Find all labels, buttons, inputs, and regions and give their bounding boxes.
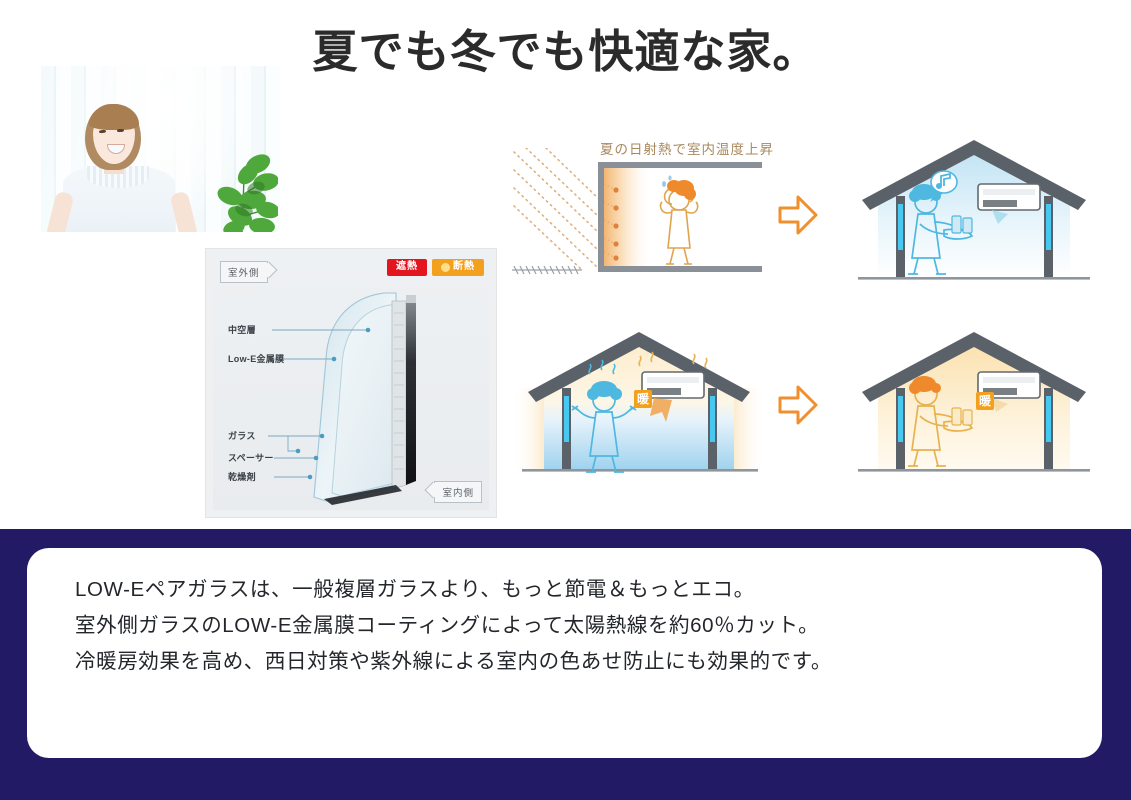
floor (858, 469, 1090, 472)
window-right (1046, 396, 1051, 442)
arrow-right-icon-2 (776, 382, 820, 428)
illustration-winter-after: 暖 (852, 330, 1096, 495)
arrow-winter (776, 382, 820, 433)
heated-wall (600, 166, 652, 266)
label-lowe-film: Low-E金属膜 (228, 352, 284, 365)
floor (858, 277, 1090, 280)
sun-rays-icon (514, 148, 600, 270)
illustration-summer-before (512, 148, 762, 293)
window-right (1046, 204, 1051, 250)
arrow-right-icon (776, 192, 820, 238)
label-desiccant: 乾燥剤 (228, 470, 256, 483)
description-line-1: LOW-Eペアガラスは、一般複層ガラスより、もっと節電＆もっとエコ。 (75, 572, 832, 608)
description-line-2: 室外側ガラスのLOW-E金属膜コーティングによって太陽熱線を約60％カット。 (75, 608, 832, 644)
window-jamb (598, 162, 604, 272)
label-air-layer: 中空層 (228, 323, 256, 336)
description-card: LOW-Eペアガラスは、一般複層ガラスより、もっと節電＆もっとエコ。 室外側ガラ… (27, 548, 1102, 758)
window-left (898, 396, 903, 442)
warm-mark-badge: 暖 (634, 390, 652, 408)
glass-frame-edge (406, 295, 416, 485)
hero-photo (41, 66, 280, 232)
window-right (710, 396, 715, 442)
floor-line (598, 266, 762, 272)
illustration-winter-before: 暖 (512, 330, 766, 495)
photo-plant (186, 124, 278, 232)
window-left (898, 204, 903, 250)
window-left (564, 396, 569, 442)
ground-hatch (512, 266, 582, 274)
ceiling-line (598, 162, 762, 168)
warm-mark-badge-2: 暖 (976, 392, 994, 410)
house-interior (878, 338, 1070, 470)
air-conditioner-icon (978, 184, 1040, 210)
arrow-summer (776, 192, 820, 243)
house-interior (878, 146, 1070, 278)
description-text: LOW-Eペアガラスは、一般複層ガラスより、もっと節電＆もっとエコ。 室外側ガラ… (75, 572, 832, 680)
spacer-bar (392, 301, 406, 489)
floor (522, 469, 758, 472)
illustration-summer-after (852, 138, 1096, 303)
label-glass: ガラス (228, 429, 256, 442)
description-line-3: 冷暖房効果を高め、西日対策や紫外線による室内の色あせ防止にも効果的です。 (75, 644, 832, 680)
glass-structure-diagram: 室外側 室内側 遮熱 断熱 (205, 248, 497, 518)
label-spacer: スペーサー (228, 451, 274, 464)
